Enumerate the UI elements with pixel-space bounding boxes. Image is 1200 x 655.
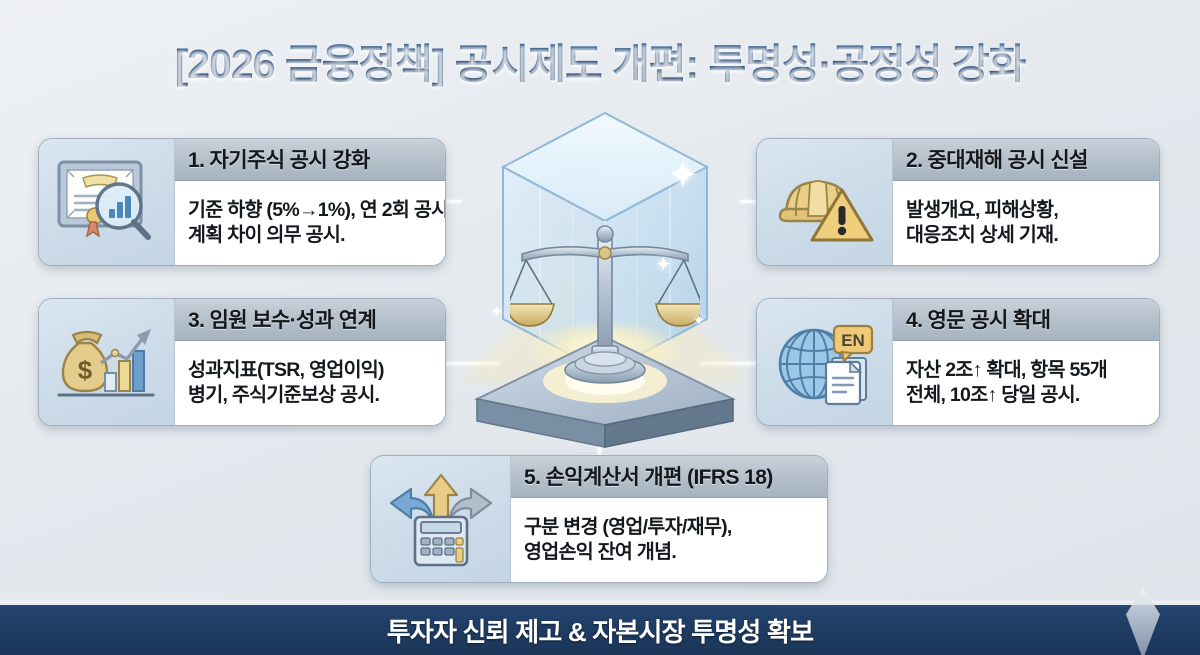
balance-scales-icon	[510, 220, 700, 395]
card-5-title: 5. 손익계산서 개편 (IFRS 18)	[511, 456, 827, 498]
card-2-serious-accident-disclosure[interactable]: 2. 중대재해 공시 신설 발생개요, 피해상황, 대응조치 상세 기재.	[756, 138, 1160, 266]
card-5-line-1: 구분 변경 (영업/투자/재무),	[524, 515, 817, 540]
card-3-executive-pay-performance[interactable]: $ 3. 임원 보수·성과 연계 성과지표(TSR, 영업이익) 병기, 주식기…	[38, 298, 446, 426]
hard-hat-warning-icon	[757, 139, 893, 265]
card-4-text: 자산 2조↑ 확대, 항목 55개 전체, 10조↑ 당일 공시.	[893, 341, 1159, 425]
page-title: [2026 금융정책] 공시제도 개편: 투명성·공정성 강화	[0, 30, 1200, 90]
card-4-line-2: 전체, 10조↑ 당일 공시.	[906, 383, 1149, 408]
card-4-title: 4. 영문 공시 확대	[893, 299, 1159, 341]
card-3-title: 3. 임원 보수·성과 연계	[175, 299, 445, 341]
bottom-banner: 투자자 신뢰 제고 & 자본시장 투명성 확보	[0, 603, 1200, 655]
card-4-english-disclosure-expansion[interactable]: EN 4. 영문 공시 확대 자산 2조↑ 확대, 항목 55개 전체, 10조…	[756, 298, 1160, 426]
card-1-line-1: 기준 하향 (5%→1%), 연 2회 공시.	[188, 198, 435, 223]
svg-text:$: $	[77, 355, 92, 385]
card-4-body: 4. 영문 공시 확대 자산 2조↑ 확대, 항목 55개 전체, 10조↑ 당…	[893, 299, 1159, 425]
card-2-line-2: 대응조치 상세 기재.	[906, 223, 1149, 248]
certificate-magnifier-chart-icon	[39, 139, 175, 265]
card-1-title: 1. 자기주식 공시 강화	[175, 139, 445, 181]
card-5-income-statement-reform[interactable]: 5. 손익계산서 개편 (IFRS 18) 구분 변경 (영업/투자/재무), …	[370, 455, 828, 583]
globe-english-document-icon: EN	[757, 299, 893, 425]
card-2-body: 2. 중대재해 공시 신설 발생개요, 피해상황, 대응조치 상세 기재.	[893, 139, 1159, 265]
card-1-treasury-stock-disclosure[interactable]: 1. 자기주식 공시 강화 기준 하향 (5%→1%), 연 2회 공시. 계획…	[38, 138, 446, 266]
card-5-text: 구분 변경 (영업/투자/재무), 영업손익 잔여 개념.	[511, 498, 827, 582]
card-1-body: 1. 자기주식 공시 강화 기준 하향 (5%→1%), 연 2회 공시. 계획…	[175, 139, 445, 265]
card-5-line-2: 영업손익 잔여 개념.	[524, 540, 817, 565]
title-bar: [2026 금융정책] 공시제도 개편: 투명성·공정성 강화	[0, 30, 1200, 90]
center-graphic: ✦ ✦ ✦ ✦	[455, 105, 755, 435]
card-3-body: 3. 임원 보수·성과 연계 성과지표(TSR, 영업이익) 병기, 주식기준보…	[175, 299, 445, 425]
svg-text:EN: EN	[841, 331, 865, 350]
card-3-line-2: 병기, 주식기준보상 공시.	[188, 383, 435, 408]
card-2-line-1: 발생개요, 피해상황,	[906, 198, 1149, 223]
card-3-text: 성과지표(TSR, 영업이익) 병기, 주식기준보상 공시.	[175, 341, 445, 425]
card-2-text: 발생개요, 피해상황, 대응조치 상세 기재.	[893, 181, 1159, 265]
card-3-line-1: 성과지표(TSR, 영업이익)	[188, 358, 435, 383]
banner-sheen	[0, 599, 1200, 605]
calculator-three-arrows-icon	[371, 456, 511, 582]
card-1-line-2: 계획 차이 의무 공시.	[188, 223, 435, 248]
card-5-body: 5. 손익계산서 개편 (IFRS 18) 구분 변경 (영업/투자/재무), …	[511, 456, 827, 582]
card-1-text: 기준 하향 (5%→1%), 연 2회 공시. 계획 차이 의무 공시.	[175, 181, 445, 265]
money-bag-growth-chart-icon: $	[39, 299, 175, 425]
card-4-line-1: 자산 2조↑ 확대, 항목 55개	[906, 358, 1149, 383]
banner-text: 투자자 신뢰 제고 & 자본시장 투명성 확보	[387, 612, 813, 649]
card-2-title: 2. 중대재해 공시 신설	[893, 139, 1159, 181]
diamond-decoration-icon	[1126, 587, 1160, 655]
